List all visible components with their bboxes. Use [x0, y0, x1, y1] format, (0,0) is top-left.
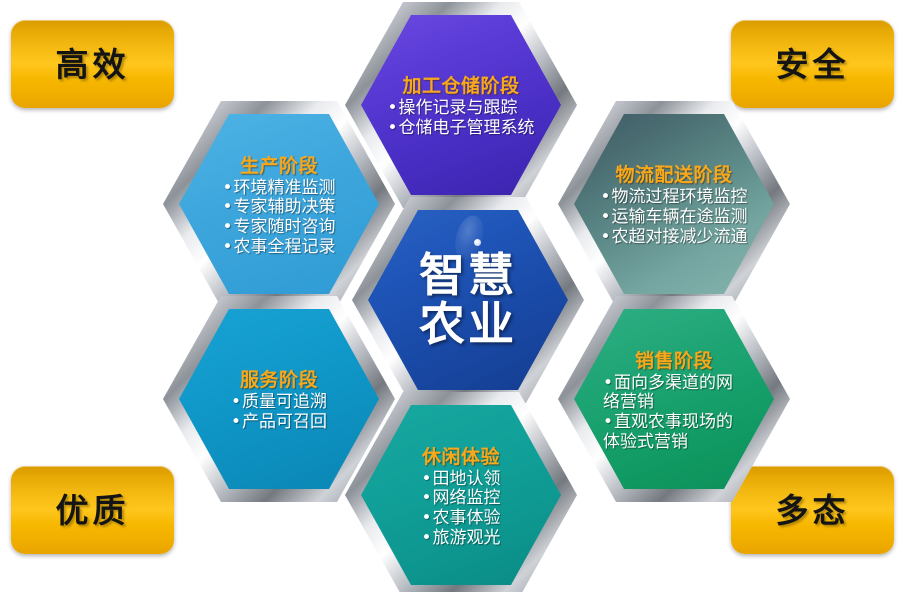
corner-badge-quality[interactable]: 优质 [11, 466, 174, 554]
hexagon-title: 服务阶段 [240, 365, 318, 392]
hexagon-bullet-list: 环境精准监测 专家辅助决策 专家随时咨询 农事全程记录 [222, 179, 335, 258]
list-item: 田地认领 [421, 470, 500, 490]
list-item: 产品可召回 [231, 413, 327, 433]
infographic-canvas: 高效 安全 优质 多态 加工仓储阶段 操作记录与跟踪 仓储电子管理系统 生产阶段… [0, 0, 903, 592]
hexagon-title: 生产阶段 [240, 151, 318, 178]
hexagon-title: 加工仓储阶段 [402, 71, 519, 98]
corner-badge-high-efficiency[interactable]: 高效 [11, 20, 174, 108]
list-item: 旅游观光 [421, 529, 500, 549]
hexagon-title: 物流配送阶段 [615, 160, 732, 187]
list-item: 网络监控 [421, 489, 500, 509]
hexagon-bullet-list: 田地认领 网络监控 农事体验 旅游观光 [421, 470, 500, 549]
list-item: 物流过程环境监控 [600, 188, 747, 208]
center-title-line-2: 农业 [419, 300, 517, 349]
list-item: 直观农事现场的体验式营销 [603, 413, 745, 452]
hexagon-title: 销售阶段 [635, 346, 713, 373]
list-item: 专家辅助决策 [222, 198, 335, 218]
hexagon-bullet-list: 面向多渠道的网络营销 直观农事现场的体验式营销 [603, 374, 745, 453]
hexagon-bullet-list: 操作记录与跟踪 仓储电子管理系统 [387, 99, 534, 138]
list-item: 环境精准监测 [222, 179, 335, 199]
hexagon-title: 休闲体验 [422, 442, 500, 469]
corner-badge-label: 优质 [56, 494, 130, 527]
hexagon-logistics[interactable]: 物流配送阶段 物流过程环境监控 运输车辆在途监测 农超对接减少流通 [558, 101, 790, 307]
list-item: 农事全程记录 [222, 238, 335, 258]
hexagon-bullet-list: 质量可追溯 产品可召回 [231, 393, 327, 432]
hexagon-bullet-list: 物流过程环境监控 运输车辆在途监测 农超对接减少流通 [600, 188, 747, 247]
list-item: 运输车辆在途监测 [600, 208, 747, 228]
hexagon-sales[interactable]: 销售阶段 面向多渠道的网络营销 直观农事现场的体验式营销 [558, 296, 790, 502]
list-item: 农超对接减少流通 [600, 228, 747, 248]
corner-badge-label: 高效 [56, 48, 130, 81]
gloss-dot-icon [474, 239, 481, 246]
list-item: 专家随时咨询 [222, 218, 335, 238]
list-item: 操作记录与跟踪 [387, 99, 534, 119]
corner-badge-label: 安全 [776, 48, 850, 81]
page-title: 智慧 农业 [419, 251, 517, 349]
list-item: 农事体验 [421, 509, 500, 529]
center-title-line-1: 智慧 [419, 251, 517, 300]
list-item: 仓储电子管理系统 [387, 119, 534, 139]
list-item: 面向多渠道的网络营销 [603, 374, 745, 413]
corner-badge-safety[interactable]: 安全 [731, 20, 894, 108]
list-item: 质量可追溯 [231, 393, 327, 413]
hexagon-leisure-experience[interactable]: 休闲体验 田地认领 网络监控 农事体验 旅游观光 [345, 392, 577, 592]
